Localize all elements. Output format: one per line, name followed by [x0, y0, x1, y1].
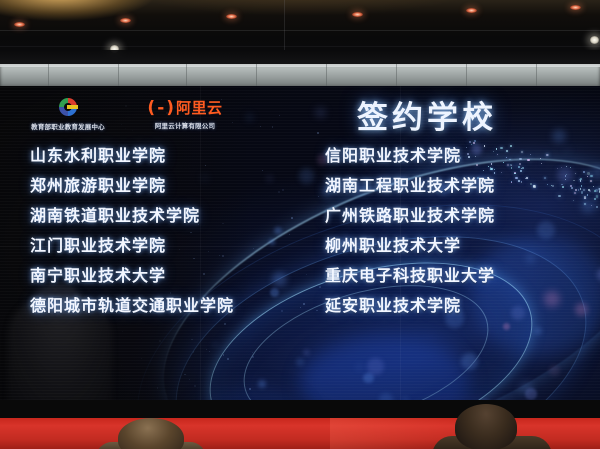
school-columns: 山东水利职业学院郑州旅游职业学院湖南铁道职业技术学院江门职业技术学院南宁职业技术…: [0, 148, 600, 398]
logo-moe: 教育部职业教育发展中心: [8, 96, 128, 131]
school-name: 郑州旅游职业学院: [30, 178, 300, 208]
school-name: 德阳城市轨道交通职业学院: [30, 298, 300, 328]
school-name: 山东水利职业学院: [30, 148, 300, 178]
school-name: 湖南铁道职业技术学院: [30, 208, 300, 238]
school-name: 广州铁路职业技术学院: [325, 208, 595, 238]
school-name: 江门职业技术学院: [30, 238, 300, 268]
venue-scene: 教育部职业教育发展中心 ( - ) 阿里云 阿里云计算有限公司 签约学校 山东水…: [0, 0, 600, 449]
school-name: 湖南工程职业技术学院: [325, 178, 595, 208]
ceiling-downlight: [120, 18, 131, 23]
aliyun-bracket-left: (: [147, 100, 154, 117]
logo-row: 教育部职业教育发展中心 ( - ) 阿里云 阿里云计算有限公司: [0, 94, 300, 146]
aliyun-bracket-glyph: -: [157, 100, 163, 117]
logo-alibaba-cloud: ( - ) 阿里云 阿里云计算有限公司: [125, 98, 245, 130]
ceiling-spotlight: [590, 36, 599, 44]
school-column-left: 山东水利职业学院郑州旅游职业学院湖南铁道职业技术学院江门职业技术学院南宁职业技术…: [30, 148, 300, 328]
aliyun-mark-icon: ( - ) 阿里云: [125, 98, 245, 118]
ceiling-downlight: [14, 22, 25, 27]
wall-band: [0, 64, 600, 86]
school-name: 南宁职业技术大学: [30, 268, 300, 298]
ceiling-downlight: [570, 5, 581, 10]
led-screen: 教育部职业教育发展中心 ( - ) 阿里云 阿里云计算有限公司 签约学校 山东水…: [0, 86, 600, 406]
ceiling-downlight: [466, 8, 477, 13]
moe-c-logo-icon: [55, 96, 81, 118]
school-name: 重庆电子科技职业大学: [325, 268, 595, 298]
school-name: 信阳职业技术学院: [325, 148, 595, 178]
ceiling-downlight: [352, 12, 363, 17]
logo-aliyun-subtitle: 阿里云计算有限公司: [125, 120, 245, 130]
ceiling-downlight: [226, 14, 237, 19]
aliyun-bracket-right: ): [166, 100, 173, 117]
school-name: 延安职业技术学院: [325, 298, 595, 328]
logo-moe-subtitle: 教育部职业教育发展中心: [8, 121, 128, 131]
school-name: 柳州职业技术大学: [325, 238, 595, 268]
slide-title: 签约学校: [322, 92, 532, 137]
audience-head: [455, 404, 517, 449]
school-column-right: 信阳职业技术学院湖南工程职业技术学院广州铁路职业技术学院柳州职业技术大学重庆电子…: [325, 148, 595, 328]
